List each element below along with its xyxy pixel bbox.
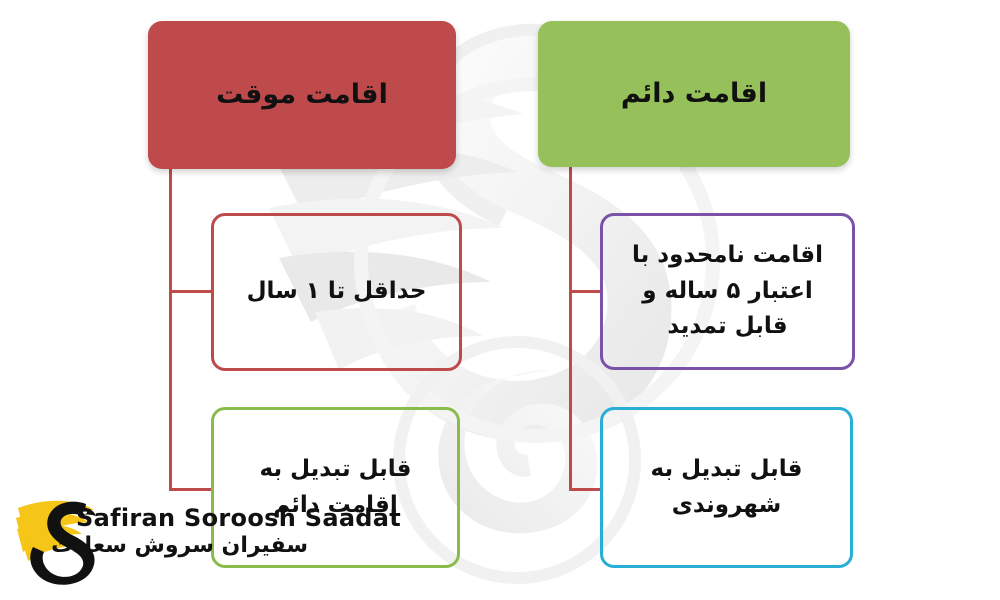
connector-permanent-branch-1: [569, 290, 603, 293]
leaf-box-unlimited-five-year[interactable]: اقامت نامحدود با اعتبار ۵ ساله و قابل تم…: [600, 213, 855, 370]
header-box-permanent-residence[interactable]: اقامت دائم: [538, 21, 850, 167]
header-label-permanent-residence: اقامت دائم: [621, 76, 767, 112]
connector-permanent-branch-2: [569, 488, 603, 491]
connector-permanent-trunk: [569, 167, 572, 491]
header-label-temporary-residence: اقامت موقت: [216, 77, 388, 113]
header-box-temporary-residence[interactable]: اقامت موقت: [148, 21, 456, 169]
connector-temporary-trunk: [169, 169, 172, 491]
leaf-box-convert-to-citizenship[interactable]: قابل تبدیل به شهروندی: [600, 407, 853, 568]
connector-temporary-branch-2: [169, 488, 214, 491]
logo-latin-name: Safiran Soroosh Saadat: [76, 506, 316, 531]
logo-text-block: Safiran Soroosh Saadat سفیران سروش سعادت: [76, 506, 316, 560]
leaf-label-convert-to-citizenship: قابل تبدیل به شهروندی: [603, 452, 850, 523]
connector-temporary-branch-1: [169, 290, 214, 293]
leaf-box-min-one-year[interactable]: حداقل تا ۱ سال: [211, 213, 462, 371]
infographic-canvas: اقامت موقت اقامت دائم حداقل تا ۱ سال قاب…: [0, 0, 1000, 600]
logo-farsi-name: سفیران سروش سعادت: [76, 533, 308, 559]
leaf-label-min-one-year: حداقل تا ۱ سال: [235, 274, 439, 310]
company-logo[interactable]: Safiran Soroosh Saadat سفیران سروش سعادت: [14, 492, 314, 588]
leaf-label-unlimited-five-year: اقامت نامحدود با اعتبار ۵ ساله و قابل تم…: [603, 238, 852, 345]
